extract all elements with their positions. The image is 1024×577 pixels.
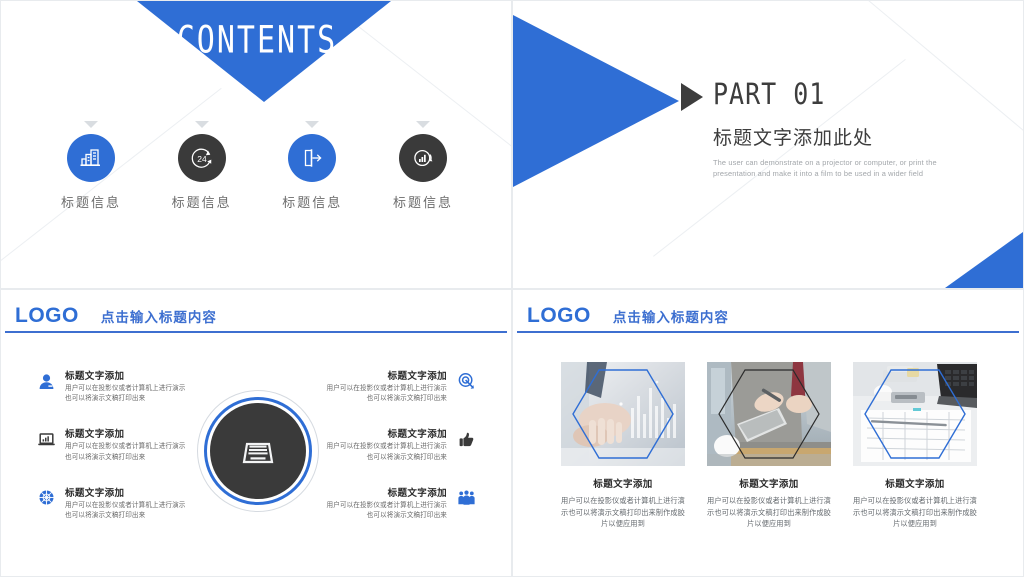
contents-item-row: 标题信息 24 标题信息 [41, 121, 473, 211]
header-divider [517, 331, 1019, 333]
contents-item[interactable]: 标题信息 [41, 121, 141, 211]
card-description: 用户可以在投影仪或者计算机上进行演示也可以将演示文稿打印出来制作成胶片以便应用到 [707, 495, 831, 530]
part-text-block: PART 01 标题文字添加此处 The user can demonstrat… [681, 79, 1011, 180]
hexagon-overlay [561, 362, 685, 466]
hub-feature-desc: 用户可以在投影仪或者计算机上进行演示 也可以将演示文稿打印出来 [295, 384, 447, 404]
image-card[interactable]: 标题文字添加 用户可以在投影仪或者计算机上进行演示也可以将演示文稿打印出来制作成… [707, 362, 831, 530]
card-description: 用户可以在投影仪或者计算机上进行演示也可以将演示文稿打印出来制作成胶片以便应用到 [853, 495, 977, 530]
slide-header: LOGO 点击输入标题内容 [1, 301, 511, 331]
24-hours-icon: 24 [178, 134, 226, 182]
hub-feature-desc: 用户可以在投影仪或者计算机上进行演示 也可以将演示文稿打印出来 [295, 442, 447, 462]
part-heading-row: PART 01 [681, 79, 1011, 111]
part-number-label: PART 01 [713, 79, 825, 109]
caret-down-icon [416, 121, 430, 128]
image-card[interactable]: 标题文字添加 用户可以在投影仪或者计算机上进行演示也可以将演示文稿打印出来制作成… [853, 362, 977, 530]
contents-item-label: 标题信息 [373, 192, 473, 211]
hub-feature-desc: 用户可以在投影仪或者计算机上进行演示 也可以将演示文稿打印出来 [65, 501, 217, 521]
slide-thumbnail-grid: CONTENTS [0, 0, 1024, 577]
image-card[interactable]: 标题文字添加 用户可以在投影仪或者计算机上进行演示也可以将演示文稿打印出来制作成… [561, 362, 685, 530]
hub-feature-title: 标题文字添加 [65, 485, 217, 499]
slide-part-divider[interactable]: PART 01 标题文字添加此处 The user can demonstrat… [512, 0, 1024, 289]
part-subtitle: 标题文字添加此处 [713, 123, 1011, 150]
people-group-icon [455, 485, 477, 511]
globe-network-icon [35, 485, 57, 511]
hexagon-overlay [853, 362, 977, 466]
caret-down-icon [84, 121, 98, 128]
chart-refresh-icon [399, 134, 447, 182]
card-title: 标题文字添加 [707, 476, 831, 490]
header-divider [5, 331, 507, 333]
slide-image-cards[interactable]: LOGO 点击输入标题内容 [512, 289, 1024, 577]
card-thumbnail [707, 362, 831, 466]
card-description: 用户可以在投影仪或者计算机上进行演示也可以将演示文稿打印出来制作成胶片以便应用到 [561, 495, 685, 530]
hub-feature-text: 标题文字添加 用户可以在投影仪或者计算机上进行演示 也可以将演示文稿打印出来 [65, 485, 217, 521]
part-description: The user can demonstrate on a projector … [713, 157, 971, 180]
hub-feature-title: 标题文字添加 [65, 426, 217, 440]
hub-feature-item[interactable]: 标题文字添加 用户可以在投影仪或者计算机上进行演示 也可以将演示文稿打印出来 [35, 485, 217, 521]
hub-feature-item[interactable]: 标题文字添加 用户可以在投影仪或者计算机上进行演示 也可以将演示文稿打印出来 [35, 368, 217, 404]
thumbs-up-icon [455, 426, 477, 452]
hexagon-overlay [707, 362, 831, 466]
logo-text: LOGO [15, 304, 79, 328]
hub-feature-title: 标题文字添加 [295, 368, 447, 382]
slide-header: LOGO 点击输入标题内容 [513, 301, 1023, 331]
slide-contents[interactable]: CONTENTS [0, 0, 512, 289]
card-thumbnail [853, 362, 977, 466]
hub-feature-title: 标题文字添加 [65, 368, 217, 382]
play-triangle-icon [681, 83, 703, 111]
hub-feature-item[interactable]: 标题文字添加 用户可以在投影仪或者计算机上进行演示 也可以将演示文稿打印出来 [295, 368, 477, 404]
hub-right-column: 标题文字添加 用户可以在投影仪或者计算机上进行演示 也可以将演示文稿打印出来 标… [295, 368, 477, 521]
hub-feature-text: 标题文字添加 用户可以在投影仪或者计算机上进行演示 也可以将演示文稿打印出来 [65, 426, 217, 462]
svg-text:24: 24 [197, 154, 207, 164]
laptop-chart-icon [35, 426, 57, 452]
hub-feature-desc: 用户可以在投影仪或者计算机上进行演示 也可以将演示文稿打印出来 [65, 442, 217, 462]
part-arrow-triangle [513, 15, 679, 187]
hub-feature-item[interactable]: 标题文字添加 用户可以在投影仪或者计算机上进行演示 也可以将演示文稿打印出来 [295, 426, 477, 462]
contents-title: CONTENTS [1, 19, 512, 63]
caret-down-icon [305, 121, 319, 128]
card-title: 标题文字添加 [853, 476, 977, 490]
hub-feature-desc: 用户可以在投影仪或者计算机上进行演示 也可以将演示文稿打印出来 [65, 384, 217, 404]
card-thumbnail [561, 362, 685, 466]
hub-feature-title: 标题文字添加 [295, 426, 447, 440]
hub-feature-text: 标题文字添加 用户可以在投影仪或者计算机上进行演示 也可以将演示文稿打印出来 [295, 485, 447, 521]
contents-item[interactable]: 标题信息 [373, 121, 473, 211]
file-tray-icon [210, 403, 306, 499]
corner-accent-triangle [945, 232, 1023, 288]
contents-item[interactable]: 标题信息 [262, 121, 362, 211]
header-title: 点击输入标题内容 [613, 306, 729, 326]
contents-item[interactable]: 24 标题信息 [152, 121, 252, 211]
building-chart-icon [67, 134, 115, 182]
exit-door-icon [288, 134, 336, 182]
hub-feature-text: 标题文字添加 用户可以在投影仪或者计算机上进行演示 也可以将演示文稿打印出来 [65, 368, 217, 404]
caret-down-icon [195, 121, 209, 128]
user-avatar-icon [35, 368, 57, 394]
hub-feature-item[interactable]: 标题文字添加 用户可以在投影仪或者计算机上进行演示 也可以将演示文稿打印出来 [295, 485, 477, 521]
hub-feature-desc: 用户可以在投影仪或者计算机上进行演示 也可以将演示文稿打印出来 [295, 501, 447, 521]
hub-feature-title: 标题文字添加 [295, 485, 447, 499]
target-icon [455, 368, 477, 394]
slide-hub-diagram[interactable]: LOGO 点击输入标题内容 [0, 289, 512, 577]
contents-item-label: 标题信息 [152, 192, 252, 211]
card-title: 标题文字添加 [561, 476, 685, 490]
hub-feature-text: 标题文字添加 用户可以在投影仪或者计算机上进行演示 也可以将演示文稿打印出来 [295, 368, 447, 404]
hub-left-column: 标题文字添加 用户可以在投影仪或者计算机上进行演示 也可以将演示文稿打印出来 [35, 368, 217, 521]
card-row: 标题文字添加 用户可以在投影仪或者计算机上进行演示也可以将演示文稿打印出来制作成… [561, 362, 977, 530]
hub-feature-item[interactable]: 标题文字添加 用户可以在投影仪或者计算机上进行演示 也可以将演示文稿打印出来 [35, 426, 217, 462]
header-title: 点击输入标题内容 [101, 306, 217, 326]
contents-item-label: 标题信息 [41, 192, 141, 211]
hub-feature-text: 标题文字添加 用户可以在投影仪或者计算机上进行演示 也可以将演示文稿打印出来 [295, 426, 447, 462]
contents-item-label: 标题信息 [262, 192, 362, 211]
logo-text: LOGO [527, 304, 591, 328]
